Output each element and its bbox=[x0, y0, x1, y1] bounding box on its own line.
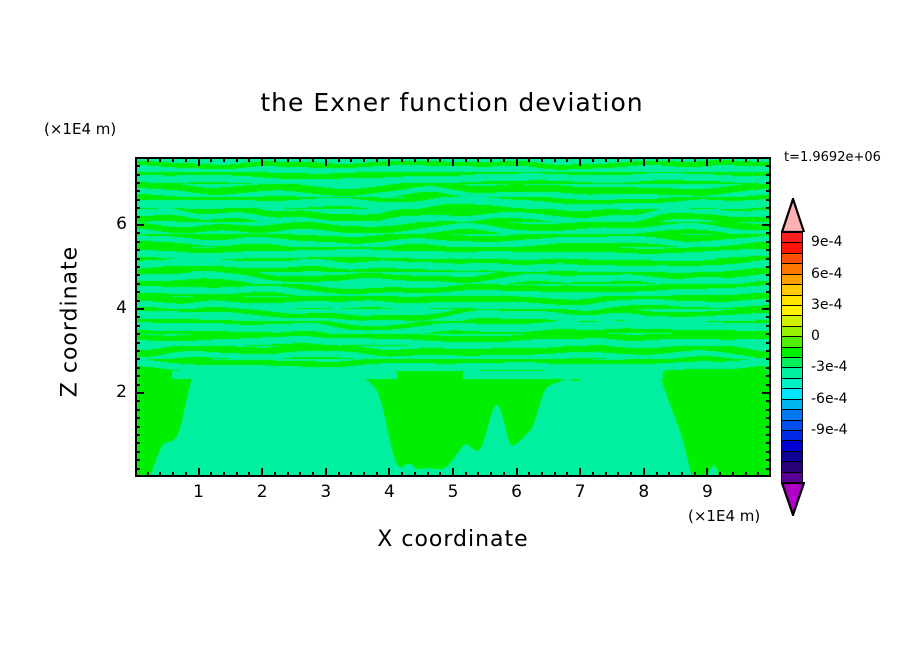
y-tick bbox=[766, 266, 771, 268]
y-tick bbox=[762, 224, 771, 226]
x-axis-unit-label: (×1E4 m) bbox=[688, 507, 760, 525]
x-tick bbox=[681, 157, 683, 162]
y-tick bbox=[135, 409, 140, 411]
y-tick bbox=[135, 207, 140, 209]
x-tick bbox=[477, 472, 479, 477]
y-tick bbox=[135, 342, 140, 344]
colorbar-top-cap bbox=[781, 198, 805, 232]
x-tick bbox=[299, 157, 301, 162]
x-tick bbox=[681, 472, 683, 477]
x-tick bbox=[605, 157, 607, 162]
x-tick bbox=[706, 468, 708, 477]
y-axis-unit-label: (×1E4 m) bbox=[44, 120, 116, 138]
x-tick bbox=[401, 157, 403, 162]
y-tick bbox=[135, 459, 140, 461]
x-tick bbox=[172, 157, 174, 162]
y-tick bbox=[766, 316, 771, 318]
y-tick bbox=[135, 451, 140, 453]
x-tick bbox=[630, 157, 632, 162]
x-tick bbox=[579, 468, 581, 477]
colorbar-tick-label: 9e-4 bbox=[811, 234, 842, 250]
y-tick bbox=[766, 333, 771, 335]
x-tick bbox=[338, 472, 340, 477]
y-tick bbox=[135, 190, 140, 192]
x-tick-label: 3 bbox=[311, 482, 341, 502]
colorbar-tick-label: 3e-4 bbox=[811, 297, 842, 313]
x-tick bbox=[439, 472, 441, 477]
x-tick bbox=[528, 472, 530, 477]
colorbar-tick-label: 0 bbox=[811, 328, 820, 344]
y-tick bbox=[135, 316, 140, 318]
x-tick bbox=[592, 157, 594, 162]
x-tick bbox=[694, 157, 696, 162]
y-tick bbox=[766, 232, 771, 234]
y-tick bbox=[766, 274, 771, 276]
x-tick bbox=[643, 157, 645, 166]
x-tick bbox=[528, 157, 530, 162]
x-tick bbox=[503, 472, 505, 477]
x-tick bbox=[427, 472, 429, 477]
y-axis-title: Z coordinate bbox=[58, 192, 83, 452]
x-tick bbox=[719, 472, 721, 477]
y-tick bbox=[766, 174, 771, 176]
x-tick bbox=[668, 157, 670, 162]
x-tick bbox=[312, 472, 314, 477]
y-tick bbox=[135, 258, 140, 260]
y-tick bbox=[766, 199, 771, 201]
y-tick bbox=[766, 216, 771, 218]
x-tick bbox=[439, 157, 441, 162]
x-tick bbox=[516, 468, 518, 477]
y-tick bbox=[766, 400, 771, 402]
x-tick bbox=[376, 157, 378, 162]
x-tick bbox=[388, 468, 390, 477]
x-tick bbox=[274, 472, 276, 477]
x-tick bbox=[223, 157, 225, 162]
x-tick bbox=[210, 157, 212, 162]
y-tick bbox=[766, 182, 771, 184]
y-tick bbox=[766, 157, 771, 159]
x-tick bbox=[706, 157, 708, 166]
y-tick-label: 4 bbox=[101, 298, 127, 318]
x-tick-label: 8 bbox=[629, 482, 659, 502]
x-tick bbox=[427, 157, 429, 162]
x-tick bbox=[630, 472, 632, 477]
x-tick-label: 2 bbox=[247, 482, 277, 502]
x-tick bbox=[541, 157, 543, 162]
x-tick bbox=[592, 472, 594, 477]
x-tick bbox=[656, 157, 658, 162]
x-tick bbox=[223, 472, 225, 477]
x-tick bbox=[617, 472, 619, 477]
x-tick bbox=[198, 468, 200, 477]
y-tick bbox=[766, 190, 771, 192]
y-tick bbox=[766, 375, 771, 377]
y-tick bbox=[135, 165, 140, 167]
x-tick bbox=[490, 157, 492, 162]
y-tick bbox=[766, 434, 771, 436]
y-tick bbox=[766, 442, 771, 444]
y-tick bbox=[766, 367, 771, 369]
y-tick bbox=[135, 157, 140, 159]
x-tick bbox=[198, 157, 200, 166]
x-tick bbox=[719, 157, 721, 162]
y-tick bbox=[766, 241, 771, 243]
x-tick bbox=[694, 472, 696, 477]
x-tick-label: 9 bbox=[692, 482, 722, 502]
y-tick bbox=[135, 325, 140, 327]
x-tick bbox=[363, 157, 365, 162]
x-tick bbox=[605, 472, 607, 477]
x-tick bbox=[617, 157, 619, 162]
timestamp-label: t=1.9692e+06 bbox=[784, 150, 881, 165]
x-axis-title: X coordinate bbox=[135, 527, 771, 552]
y-tick-label: 2 bbox=[101, 382, 127, 402]
x-tick bbox=[452, 468, 454, 477]
y-tick bbox=[766, 258, 771, 260]
x-tick bbox=[745, 472, 747, 477]
x-tick-label: 6 bbox=[502, 482, 532, 502]
y-tick bbox=[766, 249, 771, 251]
contour-field bbox=[137, 159, 769, 475]
x-tick bbox=[401, 472, 403, 477]
y-tick bbox=[135, 367, 140, 369]
x-tick bbox=[248, 472, 250, 477]
x-tick bbox=[299, 472, 301, 477]
y-tick bbox=[135, 216, 140, 218]
y-tick bbox=[766, 291, 771, 293]
x-tick bbox=[465, 157, 467, 162]
y-tick bbox=[766, 165, 771, 167]
x-tick bbox=[338, 157, 340, 162]
y-tick bbox=[135, 442, 140, 444]
x-tick bbox=[376, 472, 378, 477]
x-tick bbox=[554, 472, 556, 477]
contour-plot-area[interactable] bbox=[135, 157, 771, 477]
x-tick bbox=[757, 157, 759, 162]
x-tick bbox=[274, 157, 276, 162]
colorbar-tick-label: 6e-4 bbox=[811, 266, 842, 282]
y-tick bbox=[135, 291, 140, 293]
y-tick bbox=[766, 384, 771, 386]
y-tick bbox=[135, 333, 140, 335]
x-tick bbox=[452, 157, 454, 166]
x-tick bbox=[236, 157, 238, 162]
x-tick bbox=[465, 472, 467, 477]
x-tick bbox=[579, 157, 581, 166]
x-tick-label: 5 bbox=[438, 482, 468, 502]
y-tick bbox=[766, 409, 771, 411]
y-tick bbox=[135, 241, 140, 243]
y-tick bbox=[135, 426, 140, 428]
y-tick bbox=[135, 400, 140, 402]
y-tick bbox=[766, 325, 771, 327]
x-tick bbox=[516, 157, 518, 166]
y-tick bbox=[135, 199, 140, 201]
x-tick bbox=[287, 157, 289, 162]
x-tick-label: 1 bbox=[184, 482, 214, 502]
y-tick-label: 6 bbox=[101, 214, 127, 234]
x-tick bbox=[185, 157, 187, 162]
y-tick bbox=[135, 434, 140, 436]
y-tick bbox=[135, 308, 144, 310]
x-tick bbox=[350, 472, 352, 477]
y-tick bbox=[135, 417, 140, 419]
x-tick bbox=[414, 157, 416, 162]
x-tick bbox=[363, 472, 365, 477]
x-tick-label: 4 bbox=[374, 482, 404, 502]
y-tick bbox=[766, 350, 771, 352]
y-tick bbox=[766, 300, 771, 302]
y-tick bbox=[135, 468, 140, 470]
colorbar-tick-label: -9e-4 bbox=[811, 422, 848, 438]
y-tick bbox=[135, 232, 140, 234]
y-tick bbox=[766, 283, 771, 285]
y-tick bbox=[135, 174, 140, 176]
y-tick bbox=[135, 392, 144, 394]
x-tick bbox=[477, 157, 479, 162]
x-tick bbox=[566, 472, 568, 477]
x-tick bbox=[210, 472, 212, 477]
y-tick bbox=[135, 274, 140, 276]
x-tick bbox=[261, 157, 263, 166]
y-tick bbox=[135, 358, 140, 360]
x-tick bbox=[172, 472, 174, 477]
y-tick bbox=[766, 468, 771, 470]
y-tick bbox=[766, 426, 771, 428]
y-tick bbox=[766, 451, 771, 453]
y-tick bbox=[762, 308, 771, 310]
y-tick bbox=[766, 417, 771, 419]
x-tick-label: 7 bbox=[565, 482, 595, 502]
y-tick bbox=[135, 249, 140, 251]
y-tick bbox=[135, 350, 140, 352]
x-tick bbox=[732, 472, 734, 477]
x-tick bbox=[147, 472, 149, 477]
colorbar[interactable]: 9e-46e-43e-40-3e-4-6e-4-9e-4 bbox=[781, 198, 805, 516]
y-tick bbox=[766, 207, 771, 209]
y-tick bbox=[135, 266, 140, 268]
y-tick bbox=[135, 384, 140, 386]
y-tick bbox=[766, 342, 771, 344]
x-tick bbox=[656, 472, 658, 477]
x-tick bbox=[745, 157, 747, 162]
x-tick bbox=[503, 157, 505, 162]
colorbar-tick-label: -6e-4 bbox=[811, 391, 848, 407]
x-tick bbox=[490, 472, 492, 477]
x-tick bbox=[325, 468, 327, 477]
y-tick bbox=[762, 392, 771, 394]
x-tick bbox=[236, 472, 238, 477]
y-tick bbox=[135, 300, 140, 302]
colorbar-bottom-cap bbox=[781, 482, 805, 516]
x-tick bbox=[566, 157, 568, 162]
x-tick bbox=[414, 472, 416, 477]
x-tick bbox=[732, 157, 734, 162]
x-tick bbox=[185, 472, 187, 477]
x-tick bbox=[261, 468, 263, 477]
y-tick bbox=[135, 224, 144, 226]
x-tick bbox=[248, 157, 250, 162]
x-tick bbox=[554, 157, 556, 162]
x-tick bbox=[325, 157, 327, 166]
x-tick bbox=[159, 157, 161, 162]
x-tick bbox=[147, 157, 149, 162]
x-tick bbox=[541, 472, 543, 477]
x-tick bbox=[643, 468, 645, 477]
x-tick bbox=[350, 157, 352, 162]
y-tick bbox=[766, 459, 771, 461]
x-tick bbox=[757, 472, 759, 477]
y-tick bbox=[135, 375, 140, 377]
y-tick bbox=[135, 283, 140, 285]
y-tick bbox=[135, 182, 140, 184]
x-tick bbox=[159, 472, 161, 477]
page-title: the Exner function deviation bbox=[0, 88, 904, 117]
x-tick bbox=[668, 472, 670, 477]
x-tick bbox=[312, 157, 314, 162]
colorbar-tick-label: -3e-4 bbox=[811, 359, 848, 375]
x-tick bbox=[287, 472, 289, 477]
x-tick bbox=[388, 157, 390, 166]
y-tick bbox=[766, 358, 771, 360]
